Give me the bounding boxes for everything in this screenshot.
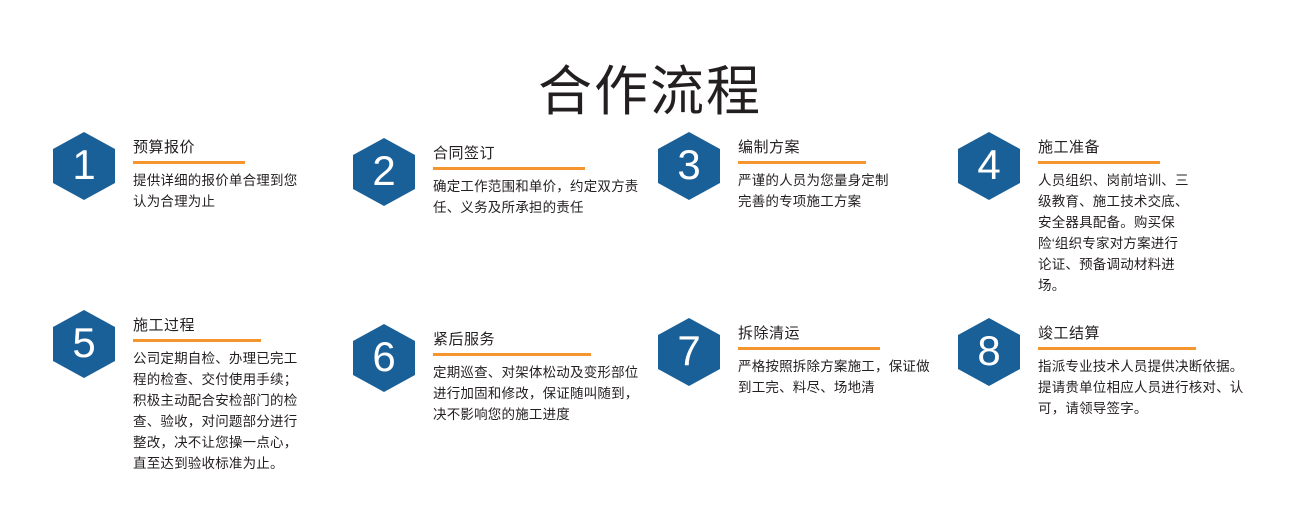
process-step-6: 6 紧后服务 定期巡查、对架体松动及变形部位进行加固和修改，保证随叫随到，决不影… bbox=[353, 324, 645, 425]
step-content-5: 施工过程 公司定期自检、办理已完工程的检查、交付使用手续；积极主动配合安检部门的… bbox=[133, 310, 301, 474]
step-content-3: 编制方案 严谨的人员为您量身定制完善的专项施工方案 bbox=[738, 132, 898, 212]
step-number-5: 5 bbox=[72, 322, 95, 364]
process-step-7: 7 拆除清运 严格按照拆除方案施工，保证做到工完、料尽、场地清 bbox=[658, 318, 934, 398]
step-number-2: 2 bbox=[372, 150, 395, 192]
step-number-6: 6 bbox=[372, 336, 395, 378]
process-step-3: 3 编制方案 严谨的人员为您量身定制完善的专项施工方案 bbox=[658, 132, 898, 212]
step-content-1: 预算报价 提供详细的报价单合理到您认为合理为止 bbox=[133, 132, 305, 212]
step-divider-6 bbox=[433, 353, 591, 356]
step-description-6: 定期巡查、对架体松动及变形部位进行加固和修改，保证随叫随到，决不影响您的施工进度 bbox=[433, 362, 645, 425]
process-step-5: 5 施工过程 公司定期自检、办理已完工程的检查、交付使用手续；积极主动配合安检部… bbox=[53, 310, 301, 474]
step-number-badge-7: 7 bbox=[658, 318, 720, 386]
step-title-5: 施工过程 bbox=[133, 316, 301, 335]
step-title-7: 拆除清运 bbox=[738, 324, 934, 343]
step-title-2: 合同签订 bbox=[433, 144, 641, 163]
step-number-badge-3: 3 bbox=[658, 132, 720, 200]
step-divider-4 bbox=[1038, 161, 1160, 164]
step-title-6: 紧后服务 bbox=[433, 330, 645, 349]
step-number-badge-2: 2 bbox=[353, 138, 415, 206]
process-step-4: 4 施工准备 人员组织、岗前培训、三级教育、施工技术交底、安全器具配备。购买保险… bbox=[958, 132, 1190, 296]
page-title: 合作流程 bbox=[0, 60, 1300, 124]
step-title-3: 编制方案 bbox=[738, 138, 898, 157]
step-content-2: 合同签订 确定工作范围和单价，约定双方责任、义务及所承担的责任 bbox=[433, 138, 641, 218]
step-content-8: 竣工结算 指派专业技术人员提供决断依据。提请贵单位相应人员进行核对、认可，请领导… bbox=[1038, 318, 1250, 419]
step-content-4: 施工准备 人员组织、岗前培训、三级教育、施工技术交底、安全器具配备。购买保险‘组… bbox=[1038, 132, 1190, 296]
step-description-1: 提供详细的报价单合理到您认为合理为止 bbox=[133, 170, 305, 212]
step-number-1: 1 bbox=[72, 144, 95, 186]
step-divider-8 bbox=[1038, 347, 1196, 350]
step-number-7: 7 bbox=[677, 330, 700, 372]
step-number-badge-8: 8 bbox=[958, 318, 1020, 386]
step-title-8: 竣工结算 bbox=[1038, 324, 1250, 343]
step-content-6: 紧后服务 定期巡查、对架体松动及变形部位进行加固和修改，保证随叫随到，决不影响您… bbox=[433, 324, 645, 425]
process-step-8: 8 竣工结算 指派专业技术人员提供决断依据。提请贵单位相应人员进行核对、认可，请… bbox=[958, 318, 1250, 419]
process-step-1: 1 预算报价 提供详细的报价单合理到您认为合理为止 bbox=[53, 132, 305, 212]
step-content-7: 拆除清运 严格按照拆除方案施工，保证做到工完、料尽、场地清 bbox=[738, 318, 934, 398]
step-number-4: 4 bbox=[977, 144, 1000, 186]
step-number-badge-4: 4 bbox=[958, 132, 1020, 200]
step-description-7: 严格按照拆除方案施工，保证做到工完、料尽、场地清 bbox=[738, 356, 934, 398]
step-title-4: 施工准备 bbox=[1038, 138, 1190, 157]
step-number-8: 8 bbox=[977, 330, 1000, 372]
step-number-3: 3 bbox=[677, 144, 700, 186]
step-number-badge-1: 1 bbox=[53, 132, 115, 200]
step-description-4: 人员组织、岗前培训、三级教育、施工技术交底、安全器具配备。购买保险‘组织专家对方… bbox=[1038, 170, 1190, 296]
step-description-2: 确定工作范围和单价，约定双方责任、义务及所承担的责任 bbox=[433, 176, 641, 218]
step-divider-2 bbox=[433, 167, 585, 170]
step-number-badge-6: 6 bbox=[353, 324, 415, 392]
step-divider-1 bbox=[133, 161, 245, 164]
step-description-5: 公司定期自检、办理已完工程的检查、交付使用手续；积极主动配合安检部门的检查、验收… bbox=[133, 348, 301, 474]
step-divider-3 bbox=[738, 161, 866, 164]
process-step-2: 2 合同签订 确定工作范围和单价，约定双方责任、义务及所承担的责任 bbox=[353, 138, 641, 218]
step-number-badge-5: 5 bbox=[53, 310, 115, 378]
step-description-3: 严谨的人员为您量身定制完善的专项施工方案 bbox=[738, 170, 898, 212]
step-divider-5 bbox=[133, 339, 261, 342]
step-divider-7 bbox=[738, 347, 880, 350]
step-title-1: 预算报价 bbox=[133, 138, 305, 157]
step-description-8: 指派专业技术人员提供决断依据。提请贵单位相应人员进行核对、认可，请领导签字。 bbox=[1038, 356, 1250, 419]
